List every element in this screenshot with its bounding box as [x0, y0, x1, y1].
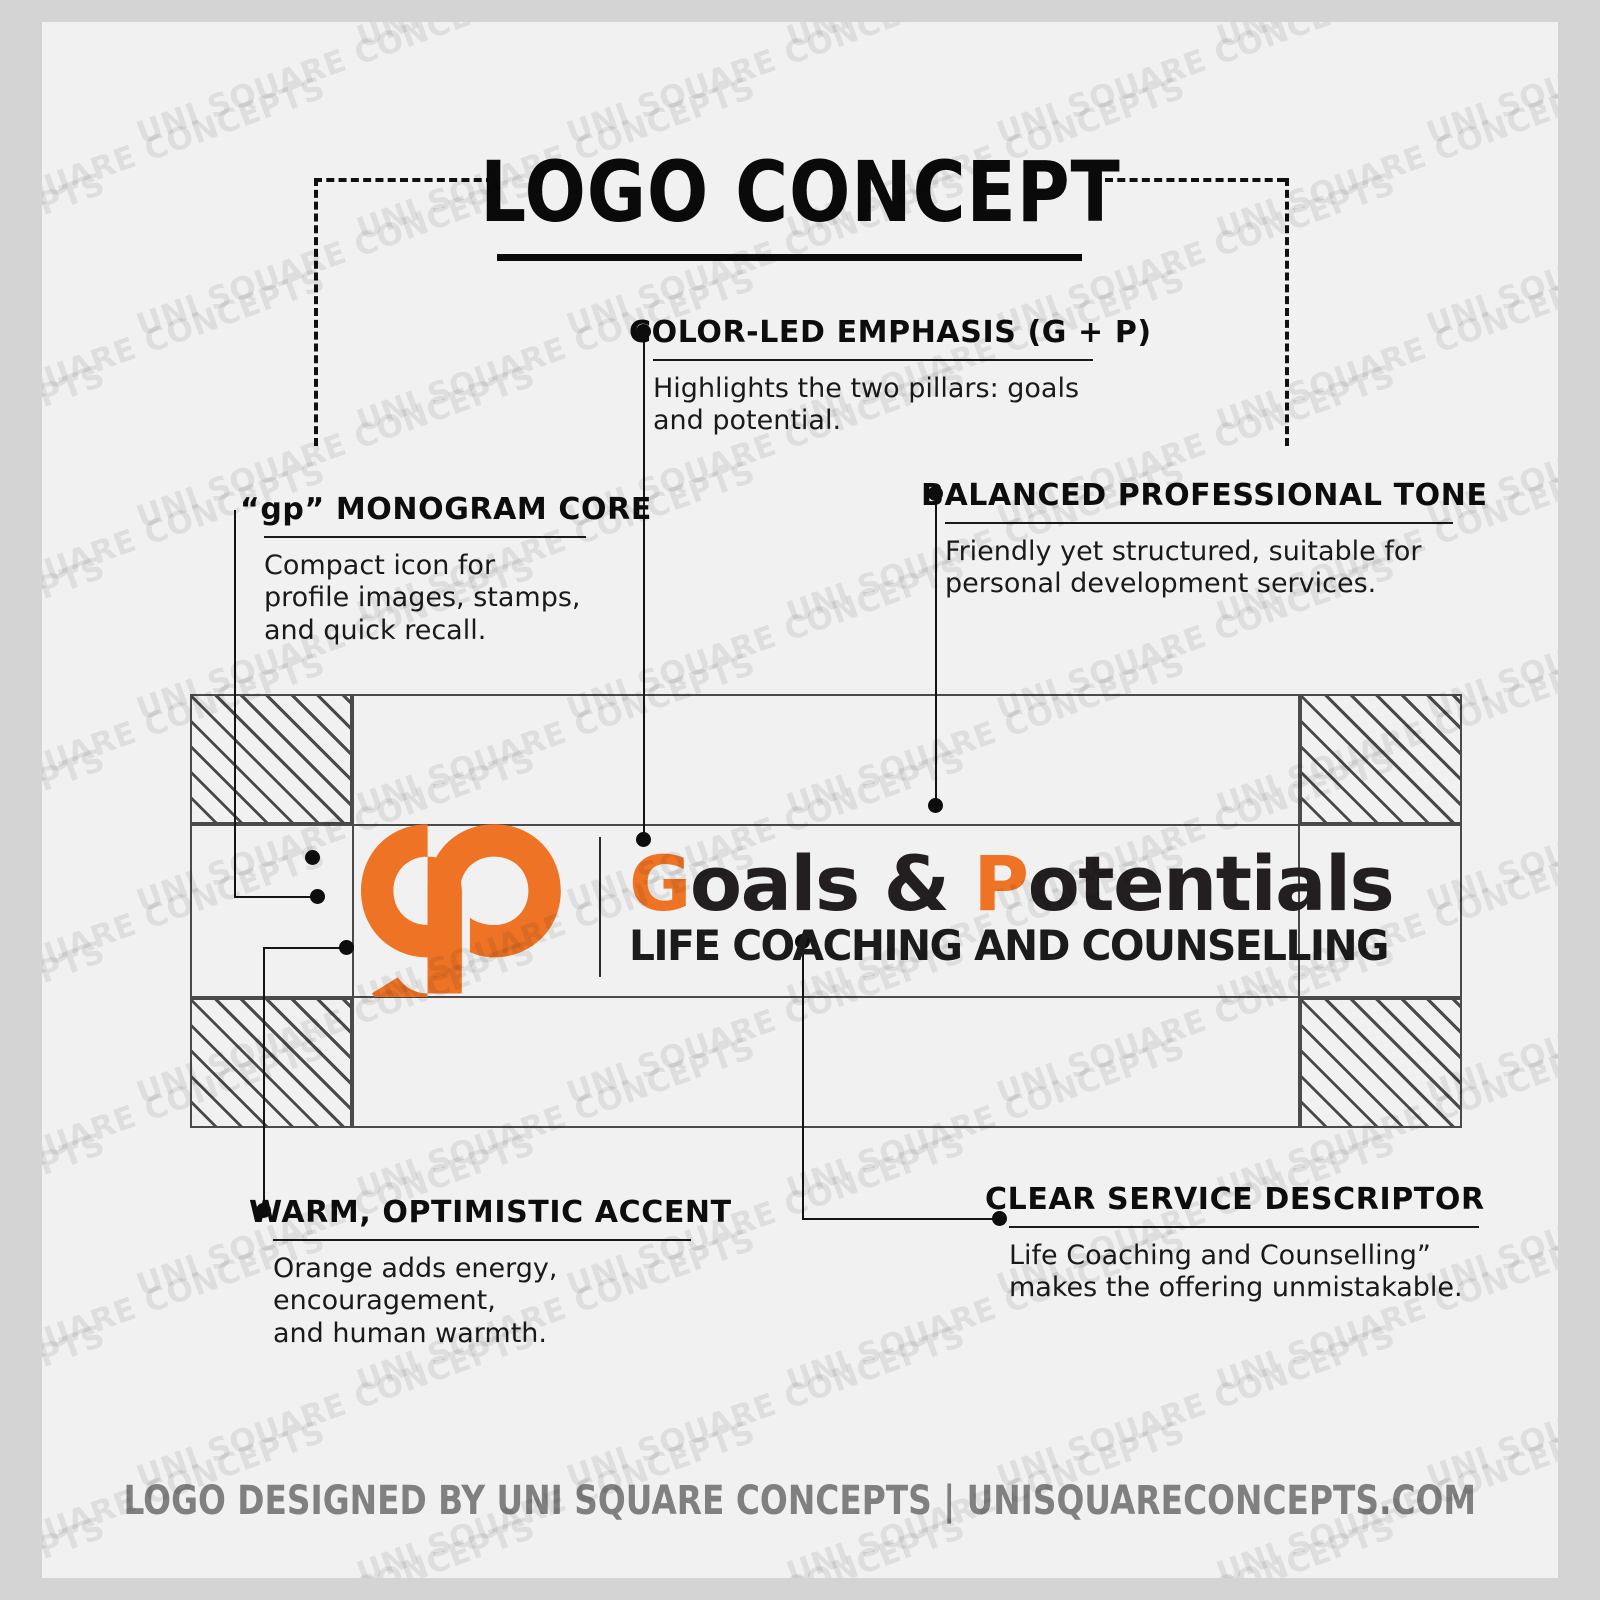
wordmark-accent-g: G — [629, 839, 690, 928]
hatch-block-bottom-right — [1300, 998, 1462, 1128]
watermark-text: UNI SQUARE CONCEPTS — [992, 1318, 1400, 1496]
watermark-text: UNI SQUARE CONCEPTS — [42, 262, 330, 440]
callout-clear-service-descriptor-body: Life Coaching and Counselling” makes the… — [1009, 1240, 1505, 1306]
callout-warm-optimistic-accent-heading: WARM, OPTIMISTIC ACCENT — [249, 1197, 749, 1229]
page-title-underline — [497, 254, 1082, 261]
callout-warm-optimistic-accent-body: Orange adds energy, encouragement, and h… — [273, 1253, 749, 1352]
callout-monogram-core-heading: “gp” MONOGRAM CORE — [240, 494, 600, 526]
watermark-text: UNI SQUARE CONCEPTS — [782, 22, 1190, 56]
callout-balanced-professional-tone-body: Friendly yet structured, suitable for pe… — [945, 536, 1461, 602]
grid-line-bottom — [190, 1126, 1462, 1128]
wordmark-rest-2: otentials — [1028, 839, 1394, 928]
hatch-block-top-right — [1300, 694, 1462, 824]
callout-clear-service-descriptor: CLEAR SERVICE DESCRIPTOR Life Coaching a… — [985, 1184, 1505, 1305]
watermark-text: UNI SQUARE CONCEPTS — [1422, 1318, 1558, 1496]
leader-line-warm-accent — [263, 947, 265, 1209]
logo-lockup: Goals & Potentials LIFE COACHING AND COU… — [352, 817, 1411, 997]
grid-line-top — [190, 694, 1462, 696]
leader-dot-monogram-core-anchor — [305, 850, 320, 865]
hatch-block-bottom-left — [190, 998, 352, 1128]
callout-balanced-professional-tone: BALANCED PROFESSIONAL TONE Friendly yet … — [921, 480, 1461, 601]
watermark-text: UNI SQUARE CONCEPTS — [42, 358, 110, 536]
grid-line-right — [1460, 694, 1462, 1128]
watermark-text: UNI SQUARE CONCEPTS — [42, 22, 330, 56]
logo-divider — [599, 837, 601, 977]
watermark-text: UNI SQUARE CONCEPTS — [352, 22, 760, 56]
callout-color-led-emphasis-rule — [653, 359, 1093, 361]
page-title: LOGO CONCEPT — [480, 150, 1121, 234]
leader-line-warm-accent-h — [263, 947, 347, 949]
watermark-text: UNI SQUARE CONCEPTS — [1212, 262, 1558, 440]
watermark-text: UNI SQUARE CONCEPTS — [42, 1126, 110, 1304]
leader-line-monogram-core — [234, 510, 236, 898]
wordmark-accent-p: P — [973, 839, 1027, 928]
footer-credit-text: LOGO DESIGNED BY UNI SQUARE CONCEPTS | U… — [124, 1478, 1477, 1524]
logo-concept-presentation: LOGO CONCEPT — [0, 0, 1600, 1600]
watermark-text: UNI SQUARE CONCEPTS — [42, 22, 110, 152]
callout-balanced-professional-tone-heading: BALANCED PROFESSIONAL TONE — [921, 480, 1461, 512]
page-title-wrap: LOGO CONCEPT — [42, 150, 1558, 234]
leader-dot-monogram-core-target — [310, 889, 325, 904]
callout-monogram-core: “gp” MONOGRAM CORE Compact icon for prof… — [240, 494, 600, 648]
watermark-text: UNI SQUARE CONCEPTS — [42, 1318, 110, 1496]
callout-color-led-emphasis: COLOR-LED EMPHASIS (G + P) Highlights th… — [629, 317, 1109, 438]
watermark-text: UNI SQUARE CONCEPTS — [1212, 22, 1558, 56]
leader-dot-balanced-tone-target — [928, 798, 943, 813]
logo-wordblock: Goals & Potentials LIFE COACHING AND COU… — [629, 847, 1411, 967]
wordmark-rest-1: oals & — [690, 839, 949, 928]
watermark-text: UNI SQUARE CONCEPTS — [132, 22, 540, 152]
hatch-block-top-left — [190, 694, 352, 824]
callout-monogram-core-rule — [264, 536, 586, 538]
watermark-text: UNI SQUARE CONCEPTS — [42, 934, 110, 1112]
watermark-text: UNI SQUARE CONCEPTS — [562, 22, 970, 152]
watermark-text: UNI SQUARE CONCEPTS — [992, 22, 1400, 152]
watermark-text: UNI SQUARE CONCEPTS — [42, 742, 110, 920]
callout-monogram-core-body: Compact icon for profile images, stamps,… — [264, 550, 600, 649]
callout-warm-optimistic-accent: WARM, OPTIMISTIC ACCENT Orange adds ener… — [249, 1197, 749, 1351]
presentation-canvas: LOGO CONCEPT — [42, 22, 1558, 1578]
callout-color-led-emphasis-body: Highlights the two pillars: goals and po… — [653, 373, 1109, 439]
callout-color-led-emphasis-heading: COLOR-LED EMPHASIS (G + P) — [629, 317, 1109, 349]
watermark-text: UNI SQUARE CONCEPTS — [1422, 22, 1558, 152]
footer-bar: S LOGO DESIGNED BY UNI SQUARE CONCEPTS |… — [42, 1478, 1558, 1524]
logo-wordmark: Goals & Potentials — [629, 847, 1411, 921]
callout-balanced-professional-tone-rule — [945, 522, 1453, 524]
logo-tagline: LIFE COACHING AND COUNSELLING — [629, 925, 1388, 967]
leader-line-service-descriptor-h — [802, 1218, 999, 1220]
grid-line-left — [190, 694, 192, 1128]
callout-clear-service-descriptor-heading: CLEAR SERVICE DESCRIPTOR — [985, 1184, 1505, 1216]
watermark-text: UNI SQUARE CONCEPTS — [42, 550, 110, 728]
callout-clear-service-descriptor-rule — [1009, 1226, 1479, 1228]
callout-warm-optimistic-accent-rule — [273, 1239, 691, 1241]
leader-line-monogram-core-h — [234, 896, 318, 898]
gp-monogram-icon — [352, 817, 577, 997]
